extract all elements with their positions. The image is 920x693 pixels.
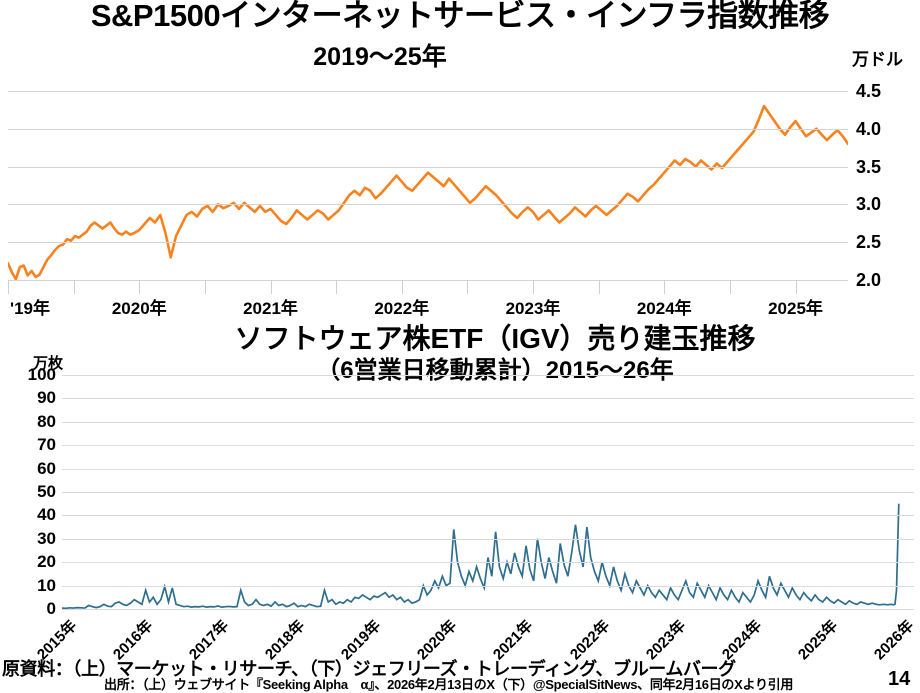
top-chart-y-tick-label: 2.0 (856, 271, 881, 289)
top-chart-x-tick-mark (74, 280, 75, 294)
bottom-chart-gridline (62, 375, 914, 376)
top-chart-x-tick-mark (467, 280, 468, 294)
bottom-chart: 01020304050607080901002015年2016年2017年201… (0, 372, 920, 617)
bottom-chart-gridline (62, 469, 914, 470)
page-number: 14 (888, 668, 910, 691)
top-chart-x-tick-label: 2024年 (637, 294, 692, 319)
top-chart-x-tick-label: 2021年 (243, 294, 298, 319)
top-chart-x-tick-mark (8, 280, 9, 294)
top-chart-gridline (8, 242, 848, 243)
top-chart-gridline (8, 167, 848, 168)
top-chart-subtitle: 2019〜25年 (0, 42, 760, 72)
bottom-chart-y-tick-label: 30 (6, 530, 56, 547)
top-chart-plot-area (8, 72, 848, 280)
bottom-chart-y-tick-label: 70 (6, 436, 56, 453)
top-chart-x-tick-mark (533, 280, 534, 294)
bottom-chart-gridline (62, 398, 914, 399)
top-chart-x-tick-mark (664, 280, 665, 294)
bottom-chart-gridline (62, 586, 914, 587)
top-chart-title: S&P1500インターネットサービス・インフラ指数推移 (0, 0, 920, 34)
bottom-chart-y-tick-label: 20 (6, 553, 56, 570)
bottom-chart-x-tick-label: 2026年 (863, 615, 917, 669)
top-chart-x-tick-label: 2023年 (506, 294, 561, 319)
top-chart-x-tick-label: 2020年 (112, 294, 167, 319)
top-chart-y-tick-label: 2.5 (856, 233, 881, 251)
top-chart-x-tick-mark (402, 280, 403, 294)
top-chart-unit-label: 万ドル (852, 45, 903, 70)
bottom-chart-y-tick-label: 60 (6, 460, 56, 477)
top-chart-gridline (8, 91, 848, 92)
bottom-chart-gridline (62, 492, 914, 493)
bottom-chart-x-tick-label: 2025年 (787, 615, 841, 669)
bottom-chart-y-tick-label: 90 (6, 389, 56, 406)
bottom-chart-gridline (62, 445, 914, 446)
top-chart-x-tick-mark (599, 280, 600, 294)
bottom-chart-gridline (62, 539, 914, 540)
top-chart-y-tick-label: 4.0 (856, 120, 881, 138)
bottom-chart-y-tick-label: 100 (6, 366, 56, 383)
top-chart-gridline (8, 204, 848, 205)
bottom-chart-gridline (62, 609, 914, 610)
top-chart-gridline (8, 280, 848, 281)
chart-line-svg (8, 72, 848, 280)
bottom-chart-line-series (62, 504, 899, 609)
bottom-chart-y-tick-label: 10 (6, 577, 56, 594)
bottom-chart-gridline (62, 515, 914, 516)
top-chart-x-tick-label: 2025年 (768, 294, 823, 319)
top-chart-y-tick-label: 3.0 (856, 195, 881, 213)
top-chart-x-tick-mark (336, 280, 337, 294)
top-chart-x-tick-mark (796, 280, 797, 294)
bottom-chart-gridline (62, 562, 914, 563)
bottom-chart-y-tick-label: 40 (6, 506, 56, 523)
top-chart-x-tick-mark (730, 280, 731, 294)
top-chart-x-tick-label: 2022年 (374, 294, 429, 319)
source-note-sub: 出所：（上）ウェブサイト『Seeking Alpha α』、2026年2月13日… (104, 674, 793, 693)
bottom-chart-y-tick-label: 0 (6, 600, 56, 617)
top-chart-x-tick-label: '19年 (10, 294, 50, 319)
bottom-chart-y-tick-label: 50 (6, 483, 56, 500)
bottom-chart-y-tick-label: 80 (6, 413, 56, 430)
top-chart-x-tick-mark (271, 280, 272, 294)
bottom-chart-title: ソフトウェア株ETF（IGV）売り建玉推移 (70, 322, 920, 356)
top-chart-y-tick-label: 3.5 (856, 158, 881, 176)
top-chart-y-tick-label: 4.5 (856, 82, 881, 100)
top-chart-x-tick-mark (139, 280, 140, 294)
top-chart-line-series (8, 106, 848, 279)
top-chart-gridline (8, 129, 848, 130)
top-chart-x-tick-mark (205, 280, 206, 294)
bottom-chart-gridline (62, 422, 914, 423)
top-chart: 2.02.53.03.54.04.5'19年2020年2021年2022年202… (0, 72, 920, 302)
